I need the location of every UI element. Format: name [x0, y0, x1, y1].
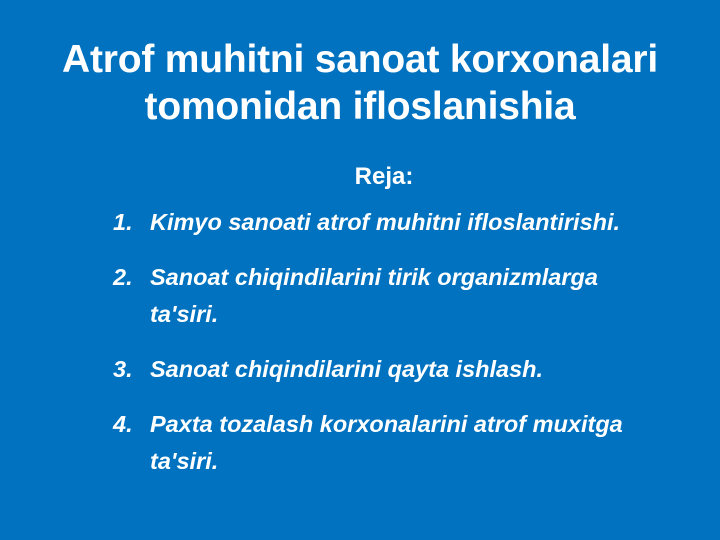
slide-title-line-1: Atrof muhitni sanoat korxonalari: [36, 36, 684, 83]
list-item-text: Kimyo sanoati atrof muhitni ifloslantiri…: [150, 204, 672, 241]
slide-title: Atrof muhitni sanoat korxonalari tomonid…: [36, 36, 684, 130]
presentation-slide: Atrof muhitni sanoat korxonalari tomonid…: [0, 0, 720, 540]
list-item-marker: 4.: [113, 406, 147, 443]
list-item-text: Sanoat chiqindilarini tirik organizmlarg…: [150, 259, 672, 333]
list-item-text: Paxta tozalash korxonalarini atrof muxit…: [150, 406, 672, 480]
list-item: 4. Paxta tozalash korxonalarini atrof mu…: [96, 406, 672, 480]
list-item-text: Sanoat chiqindilarini qayta ishlash.: [150, 351, 672, 388]
list-item-marker: 2.: [113, 259, 147, 296]
list-item-marker: 1.: [113, 204, 147, 241]
list-item: 3. Sanoat chiqindilarini qayta ishlash.: [96, 351, 672, 388]
slide-title-line-2: tomonidan ifloslanishia: [36, 83, 684, 130]
list-item-marker: 3.: [113, 351, 147, 388]
list-item: 2. Sanoat chiqindilarini tirik organizml…: [96, 259, 672, 333]
list-item: 1. Kimyo sanoati atrof muhitni ifloslant…: [96, 204, 672, 241]
agenda-list: 1. Kimyo sanoati atrof muhitni ifloslant…: [96, 204, 672, 480]
agenda-heading: Reja:: [96, 160, 672, 194]
slide-body: Reja: 1. Kimyo sanoati atrof muhitni ifl…: [96, 160, 672, 480]
